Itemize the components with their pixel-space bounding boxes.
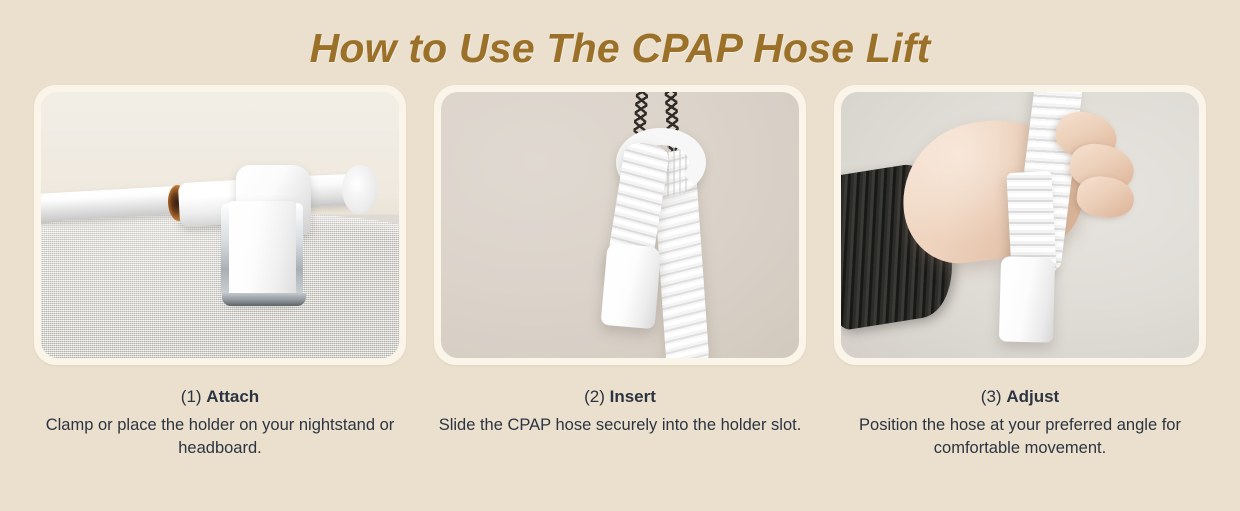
rod-end-cap — [342, 165, 378, 214]
step-card-attach: (1) Attach Clamp or place the holder on … — [34, 85, 406, 460]
step-label: Insert — [610, 387, 656, 406]
photo-insert — [441, 92, 799, 358]
step-description-attach: Clamp or place the holder on your nights… — [34, 414, 406, 460]
hose-end-cuff — [999, 256, 1055, 342]
step-heading-adjust: (3) Adjust — [981, 387, 1059, 407]
photo-frame-insert — [434, 85, 806, 365]
photo-frame-attach — [34, 85, 406, 365]
clamp-foot — [222, 293, 306, 306]
step-description-adjust: Position the hose at your preferred angl… — [834, 414, 1206, 460]
photo-attach — [41, 92, 399, 358]
step-label: Attach — [206, 387, 259, 406]
photo-frame-adjust — [834, 85, 1206, 365]
steps-row: (1) Attach Clamp or place the holder on … — [0, 71, 1240, 460]
step-card-insert: (2) Insert Slide the CPAP hose securely … — [434, 85, 806, 460]
step-number: (2) — [584, 387, 605, 406]
step-description-insert: Slide the CPAP hose securely into the ho… — [439, 414, 802, 437]
step-label: Adjust — [1006, 387, 1059, 406]
step-heading-attach: (1) Attach — [181, 387, 259, 407]
step-number: (1) — [181, 387, 202, 406]
page-title: How to Use The CPAP Hose Lift — [0, 0, 1240, 71]
photo-adjust — [841, 92, 1199, 358]
hose-end-cuff — [600, 243, 661, 330]
step-number: (3) — [981, 387, 1002, 406]
step-heading-insert: (2) Insert — [584, 387, 656, 407]
clamp-plate — [227, 201, 297, 299]
step-card-adjust: (3) Adjust Position the hose at your pre… — [834, 85, 1206, 460]
